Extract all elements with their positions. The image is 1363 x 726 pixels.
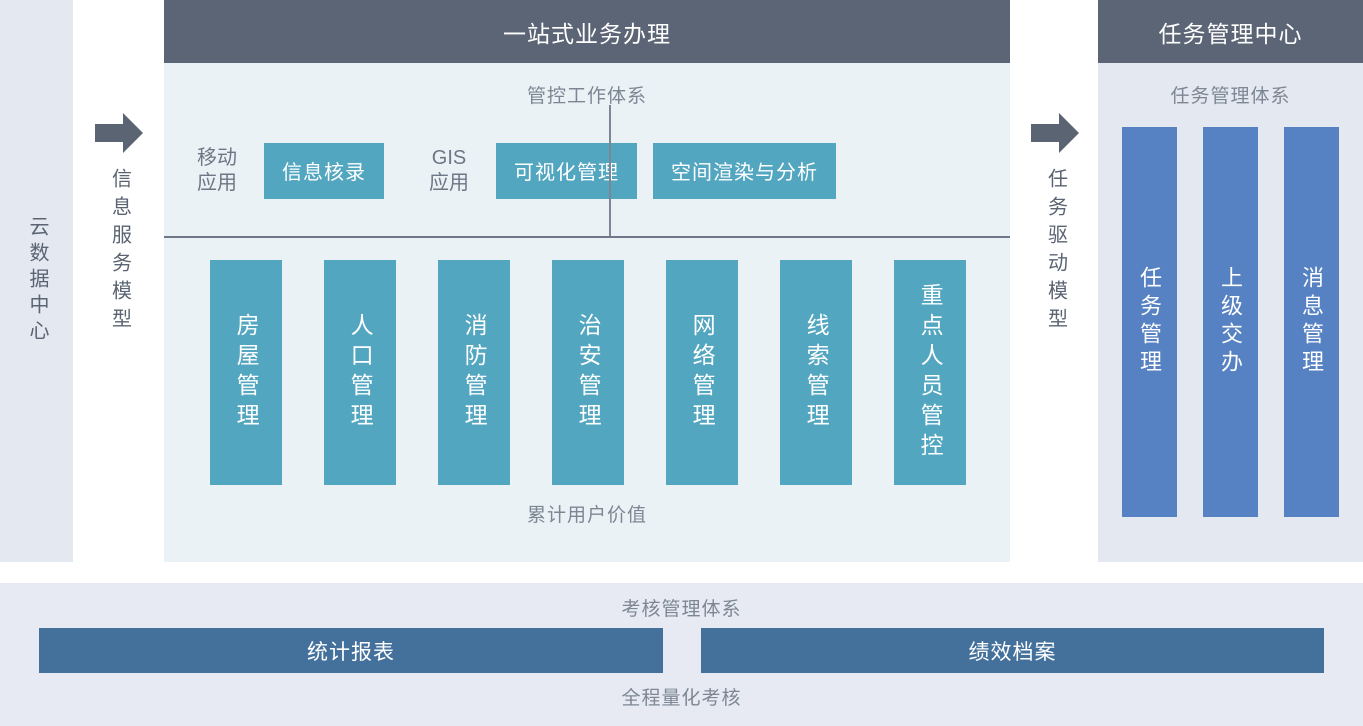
app-chip-visual-management[interactable]: 可视化管理 [496,143,637,199]
module-card-label: 治安管理 [576,313,600,433]
module-card-housing[interactable]: 房屋管理 [210,260,282,485]
task-card-label: 上级交办 [1219,266,1242,378]
module-card-clue[interactable]: 线索管理 [780,260,852,485]
assessment-panel-bottom-label: 全程量化考核 [0,683,1363,710]
application-group-divider [609,105,611,236]
task-driven-model-group: 任务驱动模型 [1014,110,1096,336]
module-card-label: 网络管理 [690,313,714,433]
cloud-data-center-label: 云数据中心 [26,216,47,346]
app-chip-info-entry[interactable]: 信息核录 [264,143,384,199]
assessment-management-panel: 考核管理体系 统计报表 绩效档案 全程量化考核 [0,583,1363,726]
assessment-bar-list: 统计报表 绩效档案 [39,628,1324,673]
assessment-bar-statistical-report[interactable]: 统计报表 [39,628,663,673]
information-service-model-group: 信息服务模型 [78,110,160,336]
application-row: 移动 应用 信息核录 GIS 应用 可视化管理 空间渲染与分析 [164,105,1010,236]
task-card-message-management[interactable]: 消息管理 [1284,127,1339,517]
module-card-label: 人口管理 [348,313,372,433]
module-card-key-personnel[interactable]: 重点人员管控 [894,260,966,485]
task-panel-subtitle: 任务管理体系 [1098,63,1363,108]
module-card-label: 房屋管理 [234,313,258,433]
module-card-fire-control[interactable]: 消防管理 [438,260,510,485]
task-management-center-panel: 任务管理中心 任务管理体系 任务管理 上级交办 消息管理 [1098,0,1363,562]
right-arrow-icon [93,110,145,156]
section-divider-rule [164,236,1010,238]
right-arrow-icon [1029,110,1081,156]
module-card-population[interactable]: 人口管理 [324,260,396,485]
task-card-superior-assignment[interactable]: 上级交办 [1203,127,1258,517]
module-card-public-security[interactable]: 治安管理 [552,260,624,485]
one-stop-business-panel: 一站式业务办理 管控工作体系 移动 应用 信息核录 GIS 应用 可视化管理 空… [164,0,1010,562]
information-service-model-label: 信息服务模型 [109,168,130,336]
task-driven-model-label: 任务驱动模型 [1045,168,1066,336]
assessment-bar-performance-archive[interactable]: 绩效档案 [701,628,1324,673]
center-panel-title: 一站式业务办理 [164,0,1010,63]
app-group-mobile-label: 移动 应用 [186,146,248,196]
app-group-mobile: 移动 应用 信息核录 [164,105,384,236]
task-card-label: 消息管理 [1300,266,1323,378]
cloud-data-center-column: 云数据中心 [0,0,73,562]
module-card-list: 房屋管理 人口管理 消防管理 治安管理 网络管理 线索管理 重点人员管控 [210,260,1010,485]
app-group-gis-label: GIS 应用 [418,146,480,196]
assessment-panel-top-label: 考核管理体系 [0,583,1363,621]
module-card-label: 消防管理 [462,313,486,433]
center-panel-footnote: 累计用户价值 [164,500,1010,527]
module-card-label: 重点人员管控 [918,283,942,463]
module-card-label: 线索管理 [804,313,828,433]
task-card-task-management[interactable]: 任务管理 [1122,127,1177,517]
diagram-canvas: 云数据中心 信息服务模型 一站式业务办理 管控工作体系 移动 应用 信息核录 G… [0,0,1363,726]
task-card-list: 任务管理 上级交办 消息管理 [1122,127,1340,517]
task-panel-title: 任务管理中心 [1098,0,1363,63]
app-chip-spatial-rendering-analysis[interactable]: 空间渲染与分析 [653,143,836,199]
module-card-network[interactable]: 网络管理 [666,260,738,485]
task-card-label: 任务管理 [1138,266,1161,378]
